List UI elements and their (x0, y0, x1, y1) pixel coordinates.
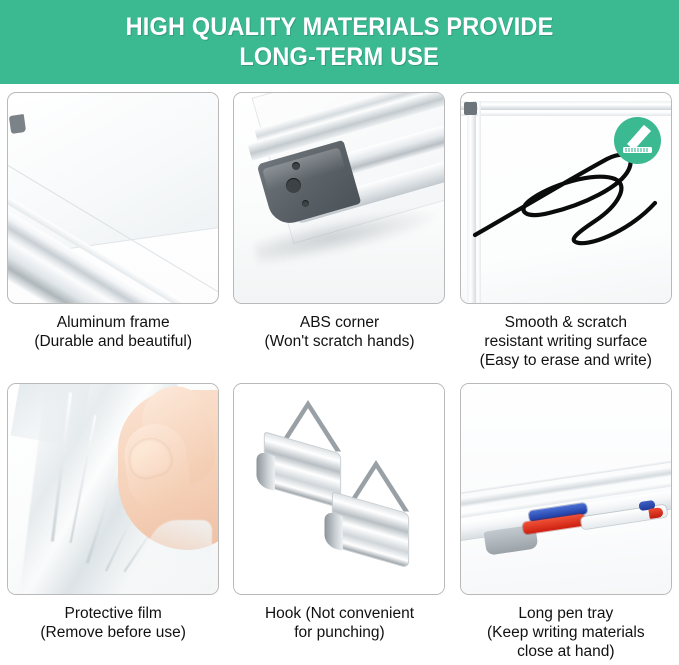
feature-image-writing-surface (460, 92, 672, 304)
feature-caption-pen-tray: Long pen tray (Keep writing materials cl… (487, 604, 645, 661)
caption-line: (Keep writing materials (487, 623, 645, 642)
hook-clip-lip (325, 510, 343, 550)
feature-caption-abs-corner: ABS corner (Won't scratch hands) (265, 313, 415, 351)
feature-card-writing-surface: Smooth & scratch resistant writing surfa… (453, 84, 679, 375)
caption-line: Hook (Not convenient (265, 604, 414, 623)
feature-card-hook: Hook (Not convenient for punching) (226, 375, 452, 665)
banner-title-line-2: LONG-TERM USE (240, 42, 440, 72)
caption-line: Aluminum frame (34, 313, 192, 332)
caption-line: resistant writing surface (480, 332, 652, 351)
feature-card-protective-film: Protective film (Remove before use) (0, 375, 226, 665)
caption-line: ABS corner (265, 313, 415, 332)
banner-title-line-1: HIGH QUALITY MATERIALS PROVIDE (126, 12, 554, 42)
feature-image-aluminum-frame (7, 92, 219, 304)
feature-infographic: HIGH QUALITY MATERIALS PROVIDE LONG-TERM… (0, 0, 679, 665)
feature-image-pen-tray (460, 383, 672, 595)
hook-clip-lip (257, 450, 275, 490)
caption-line: (Remove before use) (40, 623, 186, 642)
feature-card-aluminum-frame: Aluminum frame (Durable and beautiful) (0, 84, 226, 375)
caption-line: Smooth & scratch (480, 313, 652, 332)
caption-line: (Easy to erase and write) (480, 351, 652, 370)
corner-cap-icon (9, 114, 26, 134)
caption-line: (Durable and beautiful) (34, 332, 192, 351)
feature-image-protective-film (7, 383, 219, 595)
frame-rail-top-inner (461, 112, 672, 116)
frame-rail-top (461, 101, 672, 110)
caption-line: for punching) (265, 623, 414, 642)
feature-card-pen-tray: Long pen tray (Keep writing materials cl… (453, 375, 679, 665)
corner-cap-icon (464, 102, 477, 115)
feature-grid: Aluminum frame (Durable and beautiful) A… (0, 84, 679, 665)
feature-caption-hook: Hook (Not convenient for punching) (265, 604, 414, 642)
feature-caption-aluminum-frame: Aluminum frame (Durable and beautiful) (34, 313, 192, 351)
header-banner: HIGH QUALITY MATERIALS PROVIDE LONG-TERM… (0, 0, 679, 84)
feature-caption-protective-film: Protective film (Remove before use) (40, 604, 186, 642)
feature-card-abs-corner: ABS corner (Won't scratch hands) (226, 84, 452, 375)
feature-image-hook (233, 383, 445, 595)
caption-line: close at hand) (487, 642, 645, 661)
caption-line: Protective film (40, 604, 186, 623)
caption-line: (Won't scratch hands) (265, 332, 415, 351)
feature-caption-writing-surface: Smooth & scratch resistant writing surfa… (480, 313, 652, 370)
eraser-badge (614, 117, 661, 164)
caption-line: Long pen tray (487, 604, 645, 623)
film-pinch-highlight (148, 520, 212, 572)
feature-image-abs-corner (233, 92, 445, 304)
eraser-icon (614, 117, 661, 164)
